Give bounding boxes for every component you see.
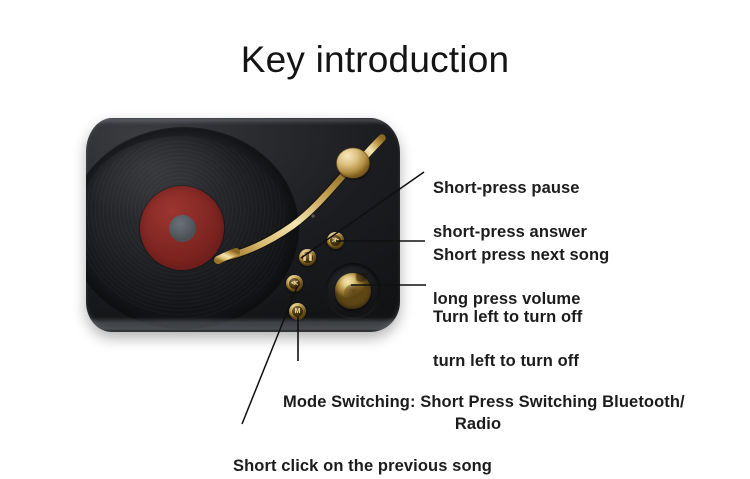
previous-song-button[interactable]: ≪ [286, 275, 303, 292]
vinyl-record-label [140, 186, 224, 270]
callout-power-knob-line1: Turn left to turn off [433, 308, 582, 326]
device-bottom-bezel [89, 317, 397, 330]
callout-previous-song-line1: Short click on the previous song [233, 457, 492, 475]
knob-notch [356, 273, 367, 282]
next-song-button[interactable]: ≫ [327, 232, 344, 249]
power-volume-knob[interactable] [335, 273, 371, 309]
callout-next-song-line1: Short press next song [433, 246, 609, 264]
callout-play-pause-line1: Short-press pause [433, 179, 580, 197]
device-top-bezel [96, 119, 390, 125]
previous-song-icon: ≪ [289, 278, 300, 289]
next-song-icon: ≫ [330, 235, 341, 246]
page-title: Key introduction [0, 40, 750, 81]
callout-power-knob: Turn left to turn off turn left to turn … [433, 284, 582, 372]
knob-recess [325, 263, 381, 319]
turntable-platter [86, 128, 298, 328]
device-body: ≫ ❚❚ ≪ M [86, 118, 400, 332]
knob-shading [344, 284, 364, 301]
play-pause-icon: ❚❚ [302, 252, 313, 263]
callout-previous-song: Short click on the previous song long cl… [233, 433, 492, 479]
mode-switch-icon: M [292, 306, 303, 317]
play-pause-button[interactable]: ❚❚ [299, 249, 316, 266]
spindle-hub [169, 215, 196, 242]
callout-mode-switching-line2: Radio [283, 413, 673, 435]
callout-power-knob-line2: turn left to turn off [433, 352, 579, 370]
turntable-device-illustration: ≫ ❚❚ ≪ M [86, 118, 400, 332]
callout-mode-switching-line1: Mode Switching: Short Press Switching Bl… [283, 393, 685, 411]
